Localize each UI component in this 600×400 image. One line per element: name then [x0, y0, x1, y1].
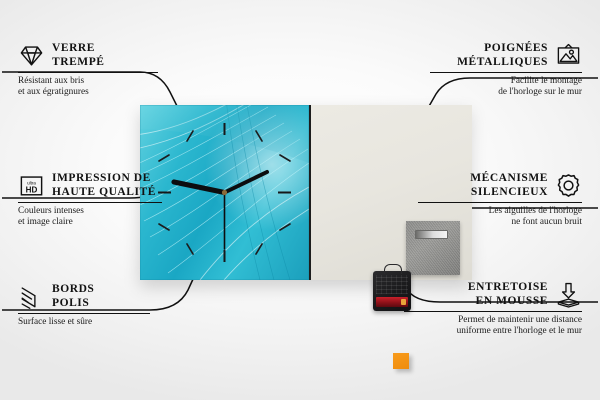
feature-title-line2: HAUTE QUALITÉ: [52, 186, 156, 200]
feature-title-line1: BORDS: [52, 283, 94, 297]
feature-desc-line2: ne font aucun bruit: [418, 217, 582, 228]
feature-desc-line1: Permet de maintenir une distance: [404, 315, 582, 326]
feature-title-line2: MÉTALLIQUES: [457, 56, 548, 70]
feature-header: POIGNÉES MÉTALLIQUES: [430, 42, 582, 69]
feature-divider: [404, 311, 582, 312]
feature-title-line2: TREMPÉ: [52, 56, 105, 70]
infographic-canvas: VERRE TREMPÉ Résistant aux bris et aux é…: [0, 0, 600, 400]
feature-desc-line2: de l'horloge sur le mur: [430, 87, 582, 98]
feature-title-line2: SILENCIEUX: [470, 186, 548, 200]
feature-divider: [18, 202, 162, 203]
polished-edges-icon: [18, 283, 45, 310]
hour-hand: [174, 182, 225, 193]
clock-front-face: [140, 105, 309, 280]
feature-desc-line2: et image claire: [18, 217, 162, 228]
foam-spacer-icon: [555, 281, 582, 308]
hanger-slot: [415, 230, 448, 239]
diamond-icon: [18, 42, 45, 69]
minute-hand: [225, 172, 268, 193]
feature-verre-trempe: VERRE TREMPÉ Résistant aux bris et aux é…: [18, 42, 158, 99]
feature-header: VERRE TREMPÉ: [18, 42, 158, 69]
metal-hanger-plate: [406, 221, 460, 275]
feature-desc-line1: Facilite le montage: [430, 76, 582, 87]
feature-divider: [18, 72, 158, 73]
feature-header: ENTRETOISE EN MOUSSE: [404, 281, 582, 308]
feature-title-line1: POIGNÉES: [457, 42, 548, 56]
feature-bords-polis: BORDS POLIS Surface lisse et sûre: [18, 283, 150, 328]
feature-title-line1: VERRE: [52, 42, 105, 56]
ultra-hd-icon: ultra HD: [18, 172, 45, 199]
feature-poignees-metalliques: POIGNÉES MÉTALLIQUES Facilite le montage…: [430, 42, 582, 99]
gear-icon: [555, 172, 582, 199]
feature-desc-line1: Les aiguilles de l'horloge: [418, 206, 582, 217]
picture-hanger-icon: [555, 42, 582, 69]
feature-divider: [18, 313, 150, 314]
feature-header: BORDS POLIS: [18, 283, 150, 310]
feature-title-line1: IMPRESSION DE: [52, 172, 156, 186]
feature-desc-line1: Surface lisse et sûre: [18, 317, 150, 328]
feature-title-line1: MÉCANISME: [470, 172, 548, 186]
feature-desc-line2: et aux égratignures: [18, 87, 158, 98]
feature-impression-haute-qualite: ultra HD IMPRESSION DE HAUTE QUALITÉ Cou…: [18, 172, 162, 229]
feature-divider: [430, 72, 582, 73]
feature-desc-line1: Couleurs intenses: [18, 206, 162, 217]
feature-mecanisme-silencieux: MÉCANISME SILENCIEUX Les aiguilles de l'…: [418, 172, 582, 229]
feature-title-line2: POLIS: [52, 297, 94, 311]
feature-desc-line1: Résistant aux bris: [18, 76, 158, 87]
feature-header: ultra HD IMPRESSION DE HAUTE QUALITÉ: [18, 172, 162, 199]
feature-title-line1: ENTRETOISE: [468, 281, 548, 295]
svg-text:HD: HD: [26, 186, 38, 195]
hands-hub: [222, 190, 227, 195]
foam-spacer: [393, 353, 409, 369]
feature-entretoise-en-mousse: ENTRETOISE EN MOUSSE Permet de maintenir…: [404, 281, 582, 338]
feature-title-line2: EN MOUSSE: [468, 295, 548, 309]
feature-divider: [418, 202, 582, 203]
feature-header: MÉCANISME SILENCIEUX: [418, 172, 582, 199]
clock-face: [140, 105, 309, 280]
feature-desc-line2: uniforme entre l'horloge et le mur: [404, 326, 582, 337]
movement-hanging-loop: [384, 264, 402, 274]
